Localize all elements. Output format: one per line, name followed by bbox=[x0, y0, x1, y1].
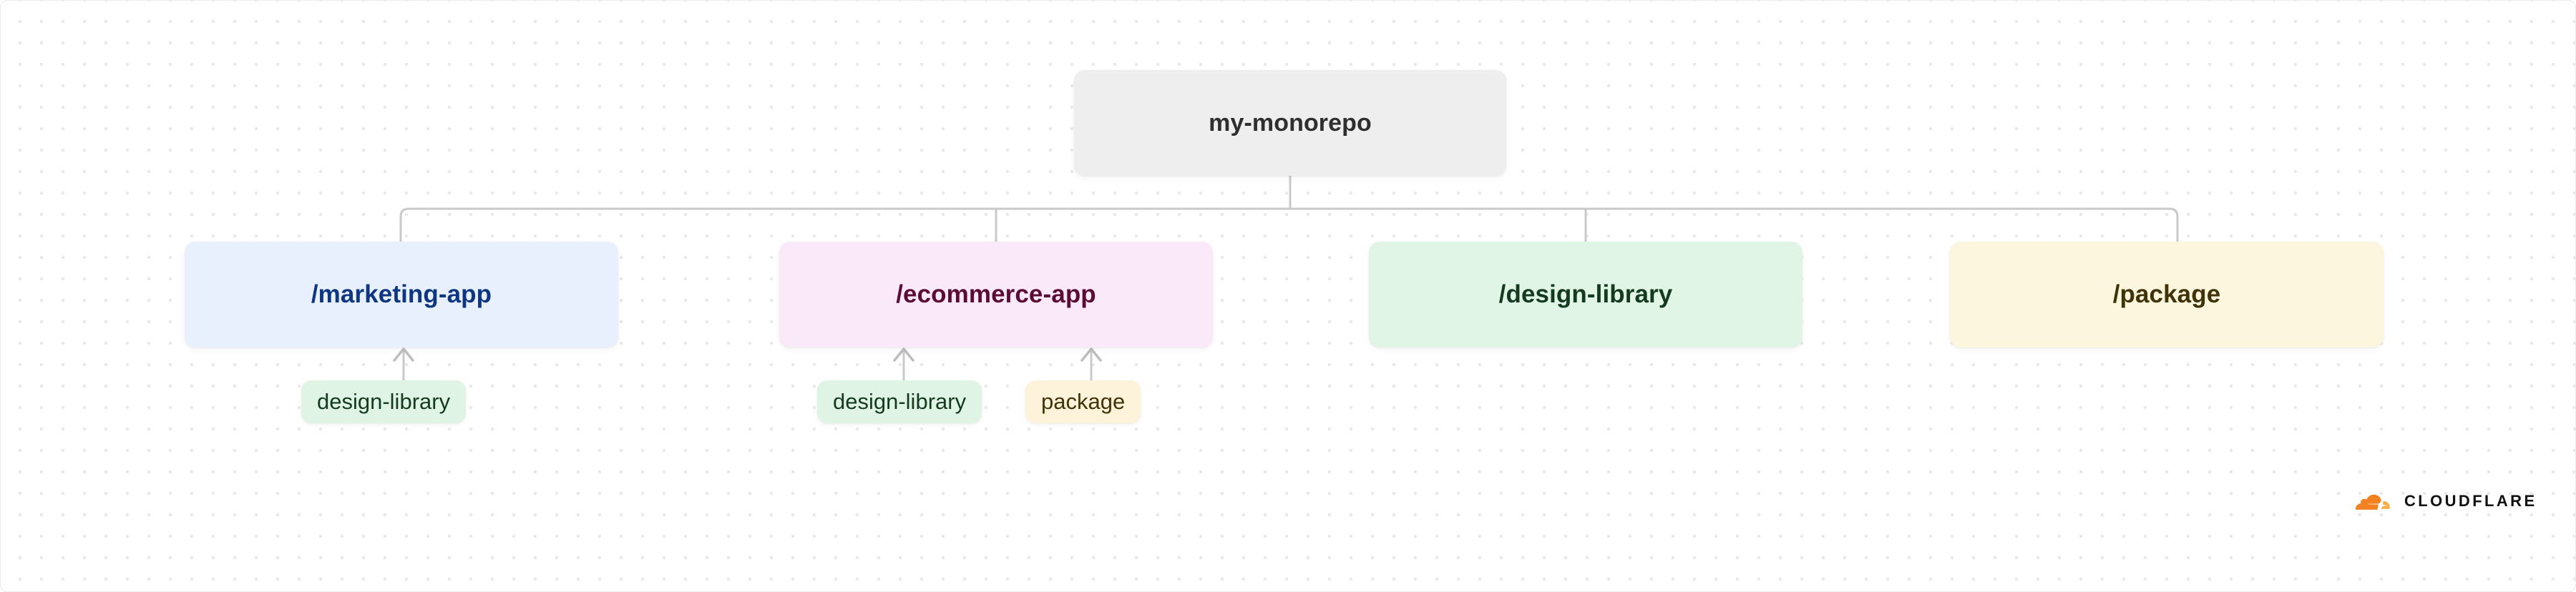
node-ecommerce-app[interactable]: /ecommerce-app bbox=[779, 242, 1213, 347]
edge-to-package bbox=[2170, 209, 2177, 242]
node-package[interactable]: /package bbox=[1950, 242, 2384, 347]
diagram-canvas[interactable]: .ln { fill:none; stroke:#c9c9c9; stroke-… bbox=[0, 0, 2576, 592]
cloudflare-logo: CLOUDFLARE bbox=[2348, 490, 2537, 512]
dependency-chip-ecommerce-design-library[interactable]: design-library bbox=[817, 380, 982, 423]
node-label: /design-library bbox=[1499, 280, 1673, 309]
cloudflare-cloud-icon bbox=[2348, 490, 2394, 512]
node-design-library[interactable]: /design-library bbox=[1369, 242, 1802, 347]
node-label: /package bbox=[2113, 280, 2221, 309]
node-label: /marketing-app bbox=[311, 280, 492, 309]
dependency-chip-ecommerce-package[interactable]: package bbox=[1025, 380, 1141, 423]
arrowhead-marketing-dep-design-library bbox=[394, 349, 413, 360]
edge-to-marketing-app bbox=[401, 209, 409, 242]
arrowhead-ecommerce-dep-design-library bbox=[894, 349, 913, 360]
arrowhead-ecommerce-dep-package bbox=[1082, 349, 1101, 360]
node-label: my-monorepo bbox=[1209, 109, 1372, 137]
node-my-monorepo[interactable]: my-monorepo bbox=[1074, 70, 1506, 176]
node-marketing-app[interactable]: /marketing-app bbox=[185, 242, 618, 347]
node-label: /ecommerce-app bbox=[896, 280, 1096, 309]
dependency-chip-marketing-design-library[interactable]: design-library bbox=[301, 380, 466, 423]
cloudflare-wordmark: CLOUDFLARE bbox=[2404, 493, 2537, 509]
